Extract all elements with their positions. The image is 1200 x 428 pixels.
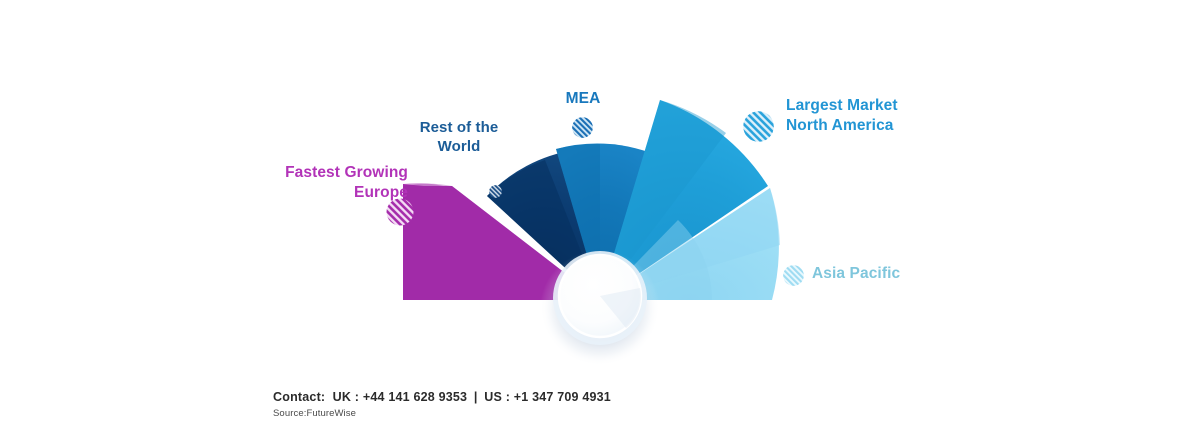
hatched-circle-icon-north-america [743,111,774,142]
fan-chart-svg [0,0,1200,380]
us-prefix: US : [484,390,510,404]
label-rest-of-the-world: Rest of the World [404,118,514,156]
hatched-circle-icon-asia-pacific [783,265,804,286]
label-north-america: Largest Market North America [786,96,946,136]
label-mea: MEA [530,89,636,109]
label-rest-of-the-world-line2: World [404,137,514,156]
label-europe-name: Europe [258,183,408,203]
label-asia-pacific: Asia Pacific [812,264,952,284]
chart-center-hub [540,250,660,366]
contact-prefix: Contact: [273,390,325,404]
contact-line: Contact: UK : +44 141 628 9353 | US : +1… [273,390,611,404]
hatched-circle-icon-mea [572,117,593,138]
label-asia-pacific-name: Asia Pacific [812,265,900,282]
hatched-circle-icon-rest-of-the-world [489,185,502,198]
contact-separator: | [471,390,481,404]
source-line: Source:FutureWise [273,408,356,419]
regional-share-fan-chart: Fastest Growing Europe Rest of the World… [0,0,1200,380]
label-mea-name: MEA [566,90,601,107]
footer: Contact: UK : +44 141 628 9353 | US : +1… [0,378,1200,428]
label-north-america-annotation: Largest Market [786,97,898,114]
infographic-canvas: Fastest Growing Europe Rest of the World… [0,0,1200,428]
label-north-america-name: North America [786,116,946,136]
hatched-circle-icon-europe [386,198,414,226]
us-phone-number[interactable]: +1 347 709 4931 [514,390,611,404]
uk-phone-number[interactable]: +44 141 628 9353 [363,390,467,404]
label-europe-annotation: Fastest Growing [285,164,408,181]
uk-prefix: UK : [333,390,360,404]
label-rest-of-the-world-line1: Rest of the [420,119,499,136]
label-europe: Fastest Growing Europe [258,163,408,203]
